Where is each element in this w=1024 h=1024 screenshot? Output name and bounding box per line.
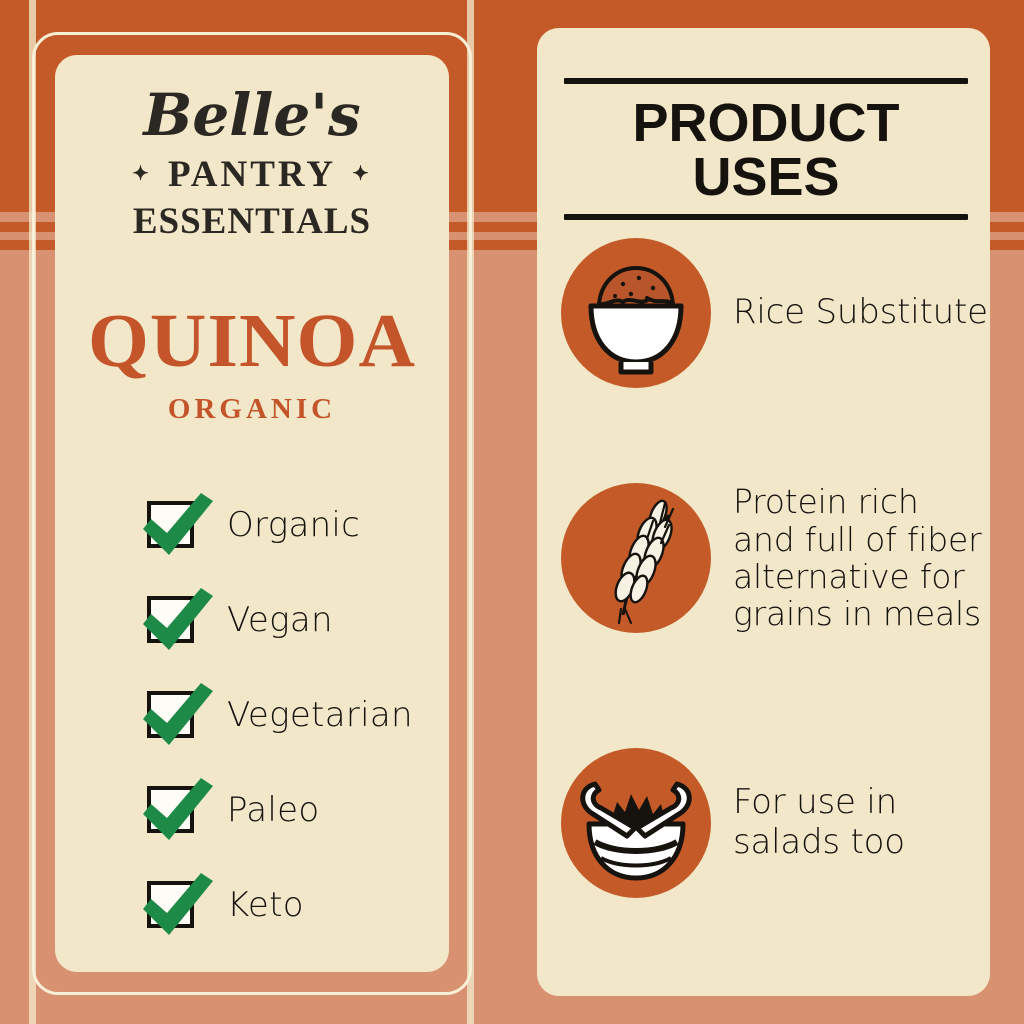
checkbox-box[interactable] <box>147 501 194 548</box>
use-line: grains in meals <box>733 595 981 632</box>
use-line: For use in <box>733 783 905 823</box>
product-infographic: Belle's ✦ PANTRY ✦ ESSENTIALS QUINOA ORG… <box>0 0 1024 1024</box>
use-line: and full of fiber <box>733 521 981 558</box>
use-line: Protein rich <box>733 483 981 520</box>
header-rule-bottom <box>564 214 968 220</box>
use-line: Rice Substitute <box>733 293 988 333</box>
rice-bowl-icon <box>561 238 711 388</box>
product-uses-header: PRODUCT USES <box>564 78 968 220</box>
checkbox-box[interactable] <box>147 881 194 928</box>
checkbox-box[interactable] <box>147 691 194 738</box>
product-uses-title: PRODUCT USES <box>564 84 968 214</box>
product-use-text: Rice Substitute <box>733 293 988 333</box>
brand-name: Belle's <box>55 85 449 146</box>
diamond-icon-right: ✦ <box>352 164 372 184</box>
wheat-stalk-icon <box>561 483 711 633</box>
product-use-item: Protein rich and full of fiber alternati… <box>561 483 976 633</box>
product-use-item: Rice Substitute <box>561 238 976 388</box>
checkbox-box[interactable] <box>147 596 194 643</box>
checklist-item-label: Vegetarian <box>227 695 413 735</box>
brand-block: Belle's ✦ PANTRY ✦ ESSENTIALS <box>55 85 449 240</box>
salad-bowl-icon <box>561 748 711 898</box>
product-use-text: For use in salads too <box>733 783 905 863</box>
product-name: QUINOA <box>49 303 455 379</box>
checklist-item[interactable]: Vegan <box>147 590 429 685</box>
checklist-item[interactable]: Vegetarian <box>147 685 429 780</box>
checkbox-box[interactable] <box>147 786 194 833</box>
use-line: salads too <box>733 823 905 863</box>
attribute-checklist: Organic Vegan Vegetarian <box>147 495 429 970</box>
checklist-item[interactable]: Organic <box>147 495 429 590</box>
checklist-item-label: Organic <box>227 505 360 545</box>
use-line: alternative for <box>733 558 981 595</box>
product-qualifier: ORGANIC <box>55 395 449 424</box>
diamond-icon-left: ✦ <box>132 164 152 184</box>
brand-essentials-text: ESSENTIALS <box>55 203 449 240</box>
product-use-item: For use in salads too <box>561 748 976 898</box>
checklist-item-label: Keto <box>227 885 304 925</box>
checklist-item[interactable]: Keto <box>147 875 429 970</box>
product-use-text: Protein rich and full of fiber alternati… <box>733 483 981 632</box>
checklist-item-label: Vegan <box>227 600 333 640</box>
product-label-card: Belle's ✦ PANTRY ✦ ESSENTIALS QUINOA ORG… <box>55 55 449 972</box>
brand-pantry-text: PANTRY <box>168 156 336 193</box>
product-uses-card: PRODUCT USES <box>537 28 990 996</box>
brand-pantry-line: ✦ PANTRY ✦ <box>55 156 449 193</box>
checklist-item[interactable]: Paleo <box>147 780 429 875</box>
checklist-item-label: Paleo <box>227 790 319 830</box>
